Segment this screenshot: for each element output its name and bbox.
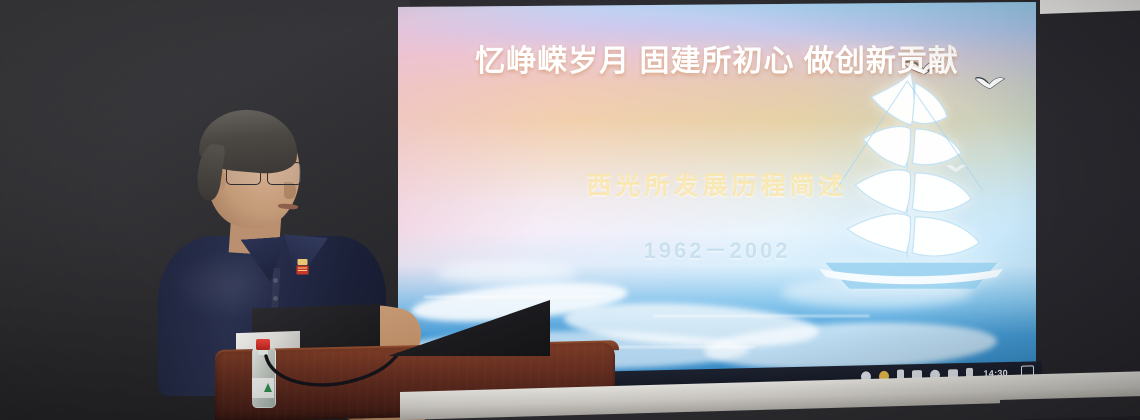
bottle-cap: [256, 339, 270, 350]
laptop-indicator-icon: [400, 312, 404, 316]
laptop-hinge: [393, 310, 399, 316]
shirt-button: [273, 296, 278, 301]
slide-subtitle: 西光所发展历程简述: [398, 166, 1036, 202]
slide-date-range: 1962－2002: [398, 233, 1036, 265]
slide-title: 忆峥嵘岁月 固建所初心 做创新贡献: [398, 36, 1036, 80]
floor-shadow: [1000, 396, 1140, 420]
wave-streak: [424, 296, 603, 298]
shirt-button: [273, 278, 278, 283]
presentation-room-scene: 忆峥嵘岁月 固建所初心 做创新贡献 西光所发展历程简述 1962－2002 W …: [0, 0, 1140, 420]
laptop-lid: [378, 300, 550, 356]
laptop[interactable]: [378, 300, 550, 360]
party-emblem-badge-icon: [296, 258, 309, 276]
wall-right: [1020, 0, 1140, 420]
wave-foam: [436, 262, 576, 285]
